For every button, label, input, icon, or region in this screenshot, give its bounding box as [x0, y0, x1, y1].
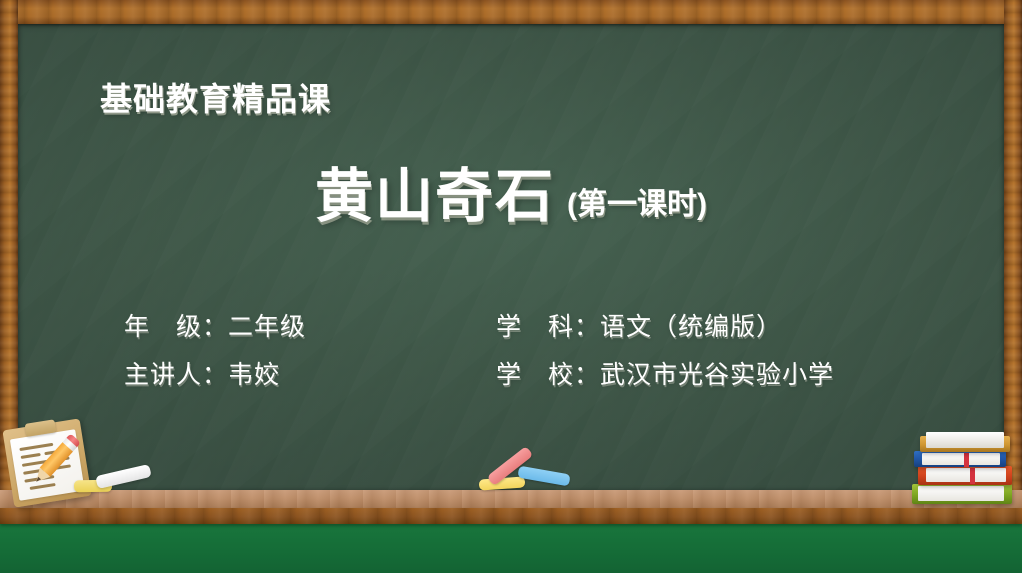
book-green-pages [918, 486, 1004, 501]
base-green-band [0, 520, 1022, 573]
bookmark-blue-book [964, 453, 969, 467]
presentation-slide: 基础教育精品课 黄山奇石 (第一课时) 年 级：二年级 学 科：语文（统编版） … [0, 0, 1022, 576]
metadata-subject: 学 科：语文（统编版） [496, 312, 782, 343]
page-title: 黄山奇石 [315, 168, 555, 226]
metadata-grade: 年 级：二年级 [124, 312, 496, 343]
metadata-school: 学 校：武汉市光谷实验小学 [496, 360, 834, 391]
book-blue-pages [922, 453, 1000, 465]
page-subtitle-lesson-number: (第一课时) [567, 190, 707, 226]
metadata-row: 主讲人：韦姣 学 校：武汉市光谷实验小学 [124, 360, 924, 391]
chalk-ledge-front [0, 508, 1022, 524]
title-row: 黄山奇石 (第一课时) [0, 168, 1022, 226]
metadata-row: 年 级：二年级 学 科：语文（统编版） [124, 312, 924, 343]
book-orange-pages [926, 468, 1006, 482]
frame-top-wood [0, 0, 1022, 24]
book-stack-icon [912, 424, 1016, 504]
chalk-ledge-top [0, 490, 1022, 508]
lesson-metadata: 年 级：二年级 学 科：语文（统编版） 主讲人：韦姣 学 校：武汉市光谷实验小学 [124, 312, 924, 409]
metadata-teacher: 主讲人：韦姣 [124, 360, 496, 391]
bookmark-orange-book [970, 468, 975, 484]
program-label: 基础教育精品课 [100, 74, 331, 120]
book-tan-pages [926, 432, 1004, 448]
